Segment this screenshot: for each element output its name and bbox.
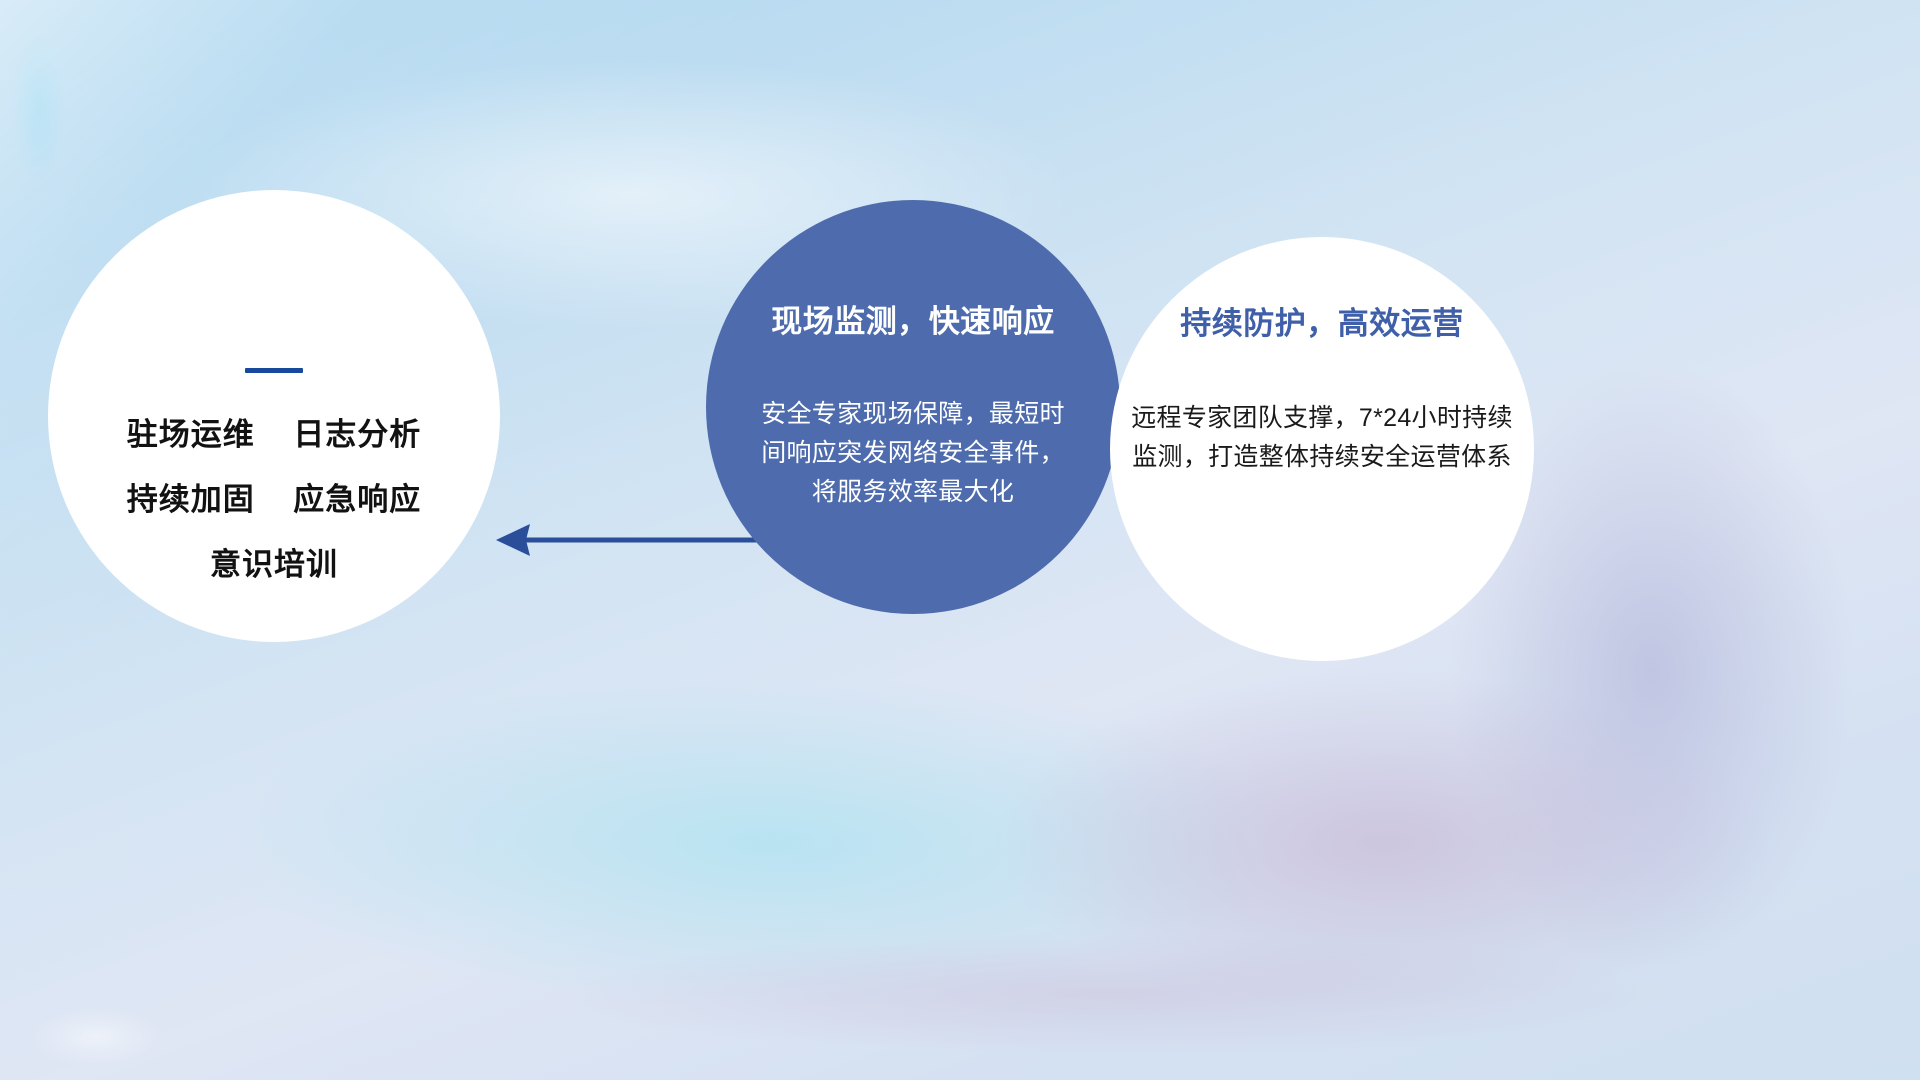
right-card-title: 持续防护，高效运营 [1180, 307, 1464, 341]
middle-card-title: 现场监测，快速响应 [771, 305, 1055, 339]
left-card-line-3: 意识培训 [210, 549, 338, 580]
left-card-line-1: 驻场运维 日志分析 [127, 419, 421, 450]
card-onsite-services[interactable]: 驻场运维 日志分析 持续加固 应急响应 意识培训 [48, 190, 500, 642]
left-card-content: 驻场运维 日志分析 持续加固 应急响应 意识培训 [48, 190, 500, 580]
divider-dash-icon [245, 368, 303, 373]
card-onsite-monitoring[interactable]: 现场监测，快速响应 安全专家现场保障，最短时间响应突发网络安全事件，将服务效率最… [706, 200, 1120, 614]
right-card-content: 持续防护，高效运营 远程专家团队支撑，7*24小时持续监测，打造整体持续安全运营… [1110, 237, 1534, 477]
middle-card-body: 安全专家现场保障，最短时间响应突发网络安全事件，将服务效率最大化 [753, 395, 1073, 511]
card-continuous-protection[interactable]: 持续防护，高效运营 远程专家团队支撑，7*24小时持续监测，打造整体持续安全运营… [1110, 237, 1534, 661]
slide-canvas: 驻场运维 日志分析 持续加固 应急响应 意识培训 现场监测，快速响应 安全专家现… [0, 0, 1920, 1080]
left-card-line-2: 持续加固 应急响应 [127, 484, 421, 515]
middle-card-content: 现场监测，快速响应 安全专家现场保障，最短时间响应突发网络安全事件，将服务效率最… [706, 200, 1120, 511]
right-card-body: 远程专家团队支撑，7*24小时持续监测，打造整体持续安全运营体系 [1122, 399, 1522, 477]
